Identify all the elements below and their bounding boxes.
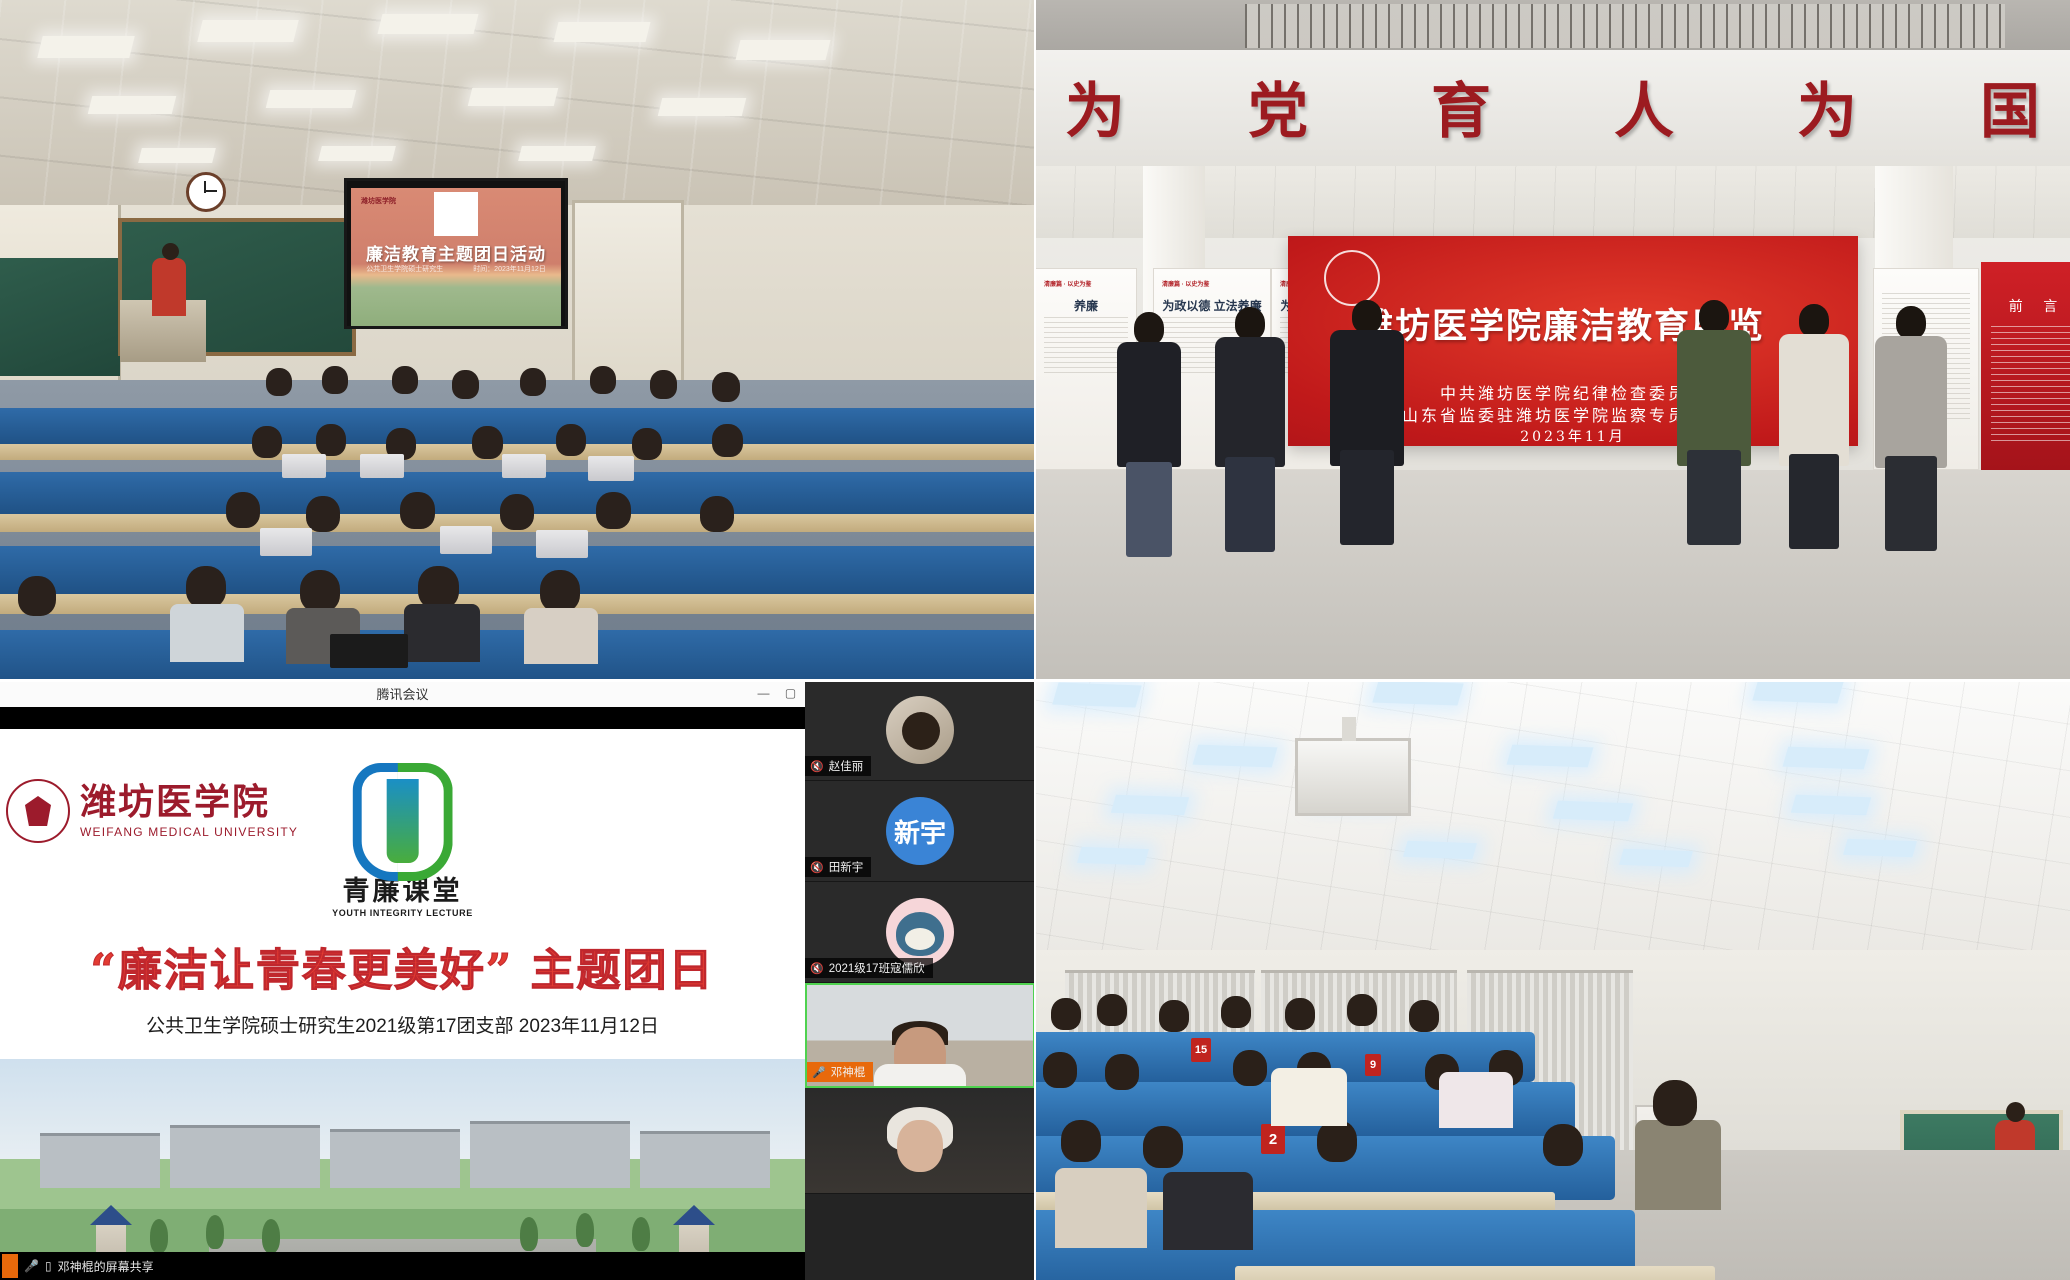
student (392, 366, 418, 394)
preface-title: 前 言 (1981, 296, 2070, 316)
slide-subtitle-left: 公共卫生学院硕士研究生 (366, 264, 443, 274)
head (1159, 1000, 1189, 1032)
student (1143, 1126, 1183, 1168)
window-title-bar: 腾讯会议 — ▢ (0, 680, 805, 707)
torso (1330, 330, 1404, 466)
ceiling (1035, 680, 2070, 980)
student (186, 566, 226, 608)
student (418, 566, 459, 609)
youth-integrity-lecture-logo: 青廉课堂 YOUTH INTEGRITY LECTURE (332, 759, 473, 918)
student (1285, 998, 1315, 1030)
student (1543, 1124, 1583, 1166)
ceiling-light (1843, 839, 1917, 857)
photo-integrity-exhibition: 为 党 育 人 为 国 清廉篇 · 以史为鉴 养廉 清廉篇 · 以史为鉴 为政以… (1035, 0, 2070, 680)
student-jacket (1635, 1120, 1721, 1210)
student (400, 492, 435, 529)
student (540, 570, 580, 612)
student-body (170, 604, 244, 662)
audience-seating (0, 380, 1035, 680)
student (226, 492, 260, 528)
ceiling-light (1052, 683, 1141, 708)
head (1653, 1080, 1697, 1126)
participant-name-badge: 🎤 邓神棍 (807, 1062, 873, 1082)
shared-screen-content: 潍坊医学院 WEIFANG MEDICAL UNIVERSITY 青廉课堂 YO… (0, 729, 805, 1280)
student (556, 424, 586, 456)
laptop (260, 528, 312, 556)
student (500, 494, 534, 530)
avatar: 新宇 (886, 797, 954, 865)
slogan-char-1: 党 (1248, 63, 1308, 150)
campus-building (640, 1131, 770, 1188)
ceiling-light (138, 148, 216, 163)
ceiling-projector (1295, 738, 1411, 816)
head (1051, 998, 1081, 1030)
photo-tencent-meeting-screen-share: 腾讯会议 — ▢ 潍坊医学院 WEIFANG MEDICAL UNIVERSIT… (0, 680, 1035, 1280)
photo-classroom-audience: 15 9 3 2 (1035, 680, 2070, 1280)
head (1799, 304, 1829, 337)
ceiling-light (1193, 745, 1278, 768)
preface-poster: 前 言 (1981, 262, 2070, 472)
ceiling-light (37, 36, 134, 58)
student (18, 576, 56, 616)
participant-name-badge: 🔇 2021级17班寇儒欣 (805, 958, 933, 978)
participant-tile[interactable] (805, 1088, 1035, 1194)
student (700, 496, 734, 532)
ceiling-light (518, 146, 596, 161)
campus-building (470, 1121, 630, 1188)
participant-name-badge: 🔇 田新宇 (805, 857, 871, 877)
laptop (282, 454, 326, 478)
ceiling-light (658, 98, 746, 116)
laptop (588, 456, 634, 481)
seat-row (0, 408, 1035, 448)
center-leaf-icon (386, 779, 418, 863)
presenter-indicator (2, 1254, 18, 1278)
head (1543, 1124, 1583, 1166)
slide-title: 廉洁教育主题团日活动 (351, 240, 561, 265)
student-jacket (1055, 1168, 1147, 1248)
tree (632, 1217, 650, 1251)
mute-icon: 🔇 (810, 962, 824, 975)
student-jacket (1439, 1072, 1513, 1128)
poster-body-text (1044, 317, 1128, 377)
student (650, 370, 677, 399)
seat-number-badge: 9 (1365, 1054, 1381, 1076)
tree (262, 1219, 280, 1253)
participant-tile-active-speaker[interactable]: 🎤 邓神棍 (805, 983, 1035, 1088)
head (1317, 1120, 1357, 1162)
student (306, 496, 340, 532)
mute-icon: 🔇 (810, 760, 824, 773)
maximize-button[interactable]: ▢ (784, 687, 797, 700)
tree (576, 1213, 594, 1247)
university-name-en: WEIFANG MEDICAL UNIVERSITY (80, 825, 298, 839)
student (266, 368, 292, 396)
campus-building (170, 1125, 320, 1188)
app-title: 腾讯会议 (376, 684, 428, 703)
participant-name-badge: 🔇 赵佳丽 (805, 756, 871, 776)
projection-screen: 潍坊医学院 廉洁教育主题团日活动 公共卫生学院硕士研究生 时间：2023年11月… (344, 178, 568, 329)
participant-name: 赵佳丽 (829, 758, 864, 774)
avatar-initials: 新宇 (894, 813, 946, 850)
tree (150, 1219, 168, 1253)
student (322, 366, 348, 394)
ceiling-light (736, 40, 831, 60)
participant-tile[interactable]: 新宇 🔇 田新宇 (805, 781, 1035, 882)
head (1105, 1054, 1139, 1090)
legs (1340, 450, 1393, 545)
head (1233, 1050, 1267, 1086)
head (1134, 312, 1164, 345)
slogan-char-0: 为 (1065, 63, 1125, 150)
student (1317, 1120, 1357, 1162)
exhibition-attendee (1215, 307, 1285, 562)
participant-sidebar: 🔇 正在讲话：邓神棍 ▸▸ 🔇 赵佳丽 新宇 🔇 田新宇 (805, 680, 1035, 1280)
window-controls: — ▢ (757, 680, 797, 707)
avatar (886, 898, 954, 966)
student (1221, 996, 1251, 1028)
slogan-char-3: 人 (1614, 63, 1674, 150)
seat-row (0, 630, 1035, 680)
student (590, 366, 616, 394)
tree (520, 1217, 538, 1251)
exhibition-attendee (1330, 300, 1404, 562)
student (1061, 1120, 1101, 1162)
legs (1885, 456, 1937, 551)
laptop (536, 530, 588, 558)
student (1653, 1080, 1697, 1126)
ceiling-light (1791, 795, 1871, 816)
exhibition-attendee (1875, 306, 1947, 562)
ceiling-light (88, 96, 176, 114)
ceiling-light (1372, 680, 1463, 705)
student (452, 370, 479, 399)
legs (1225, 457, 1275, 552)
head (1352, 300, 1382, 333)
student (1347, 994, 1377, 1026)
student (712, 372, 740, 402)
head (1409, 1000, 1439, 1032)
screen-share-icon[interactable]: ▯ (45, 1259, 52, 1273)
ceiling-light (1111, 795, 1189, 816)
microphone-icon: 🎤 (812, 1066, 826, 1079)
ceiling-light (378, 14, 479, 34)
campus-building (40, 1133, 160, 1188)
ceiling-light (1619, 849, 1693, 867)
seat-number-badge: 15 (1191, 1038, 1211, 1062)
head (1699, 300, 1729, 333)
head (1061, 1120, 1101, 1162)
student (1051, 998, 1081, 1030)
student (316, 424, 346, 456)
desk-row (1235, 1266, 1715, 1280)
legs (1789, 454, 1839, 549)
head (1097, 994, 1127, 1026)
exhibition-attendee (1117, 312, 1181, 562)
photo-collage: 潍坊医学院 廉洁教育主题团日活动 公共卫生学院硕士研究生 时间：2023年11月… (0, 0, 2070, 1280)
ceiling-light (1077, 847, 1149, 865)
seat-row (0, 546, 1035, 598)
student (1105, 1054, 1139, 1090)
exhibition-attendee (1677, 300, 1751, 562)
ceiling-light (1783, 747, 1870, 770)
wall-slogan: 为 党 育 人 为 国 (1035, 48, 2070, 164)
preface-body-text (1991, 326, 2070, 446)
window-letterbox (0, 707, 805, 729)
slogan-char-5: 国 (1980, 63, 2040, 150)
tree (206, 1215, 224, 1249)
torso (1875, 336, 1947, 468)
slogan-char-4: 为 (1797, 63, 1857, 150)
student-body (524, 608, 598, 664)
ceiling-light (318, 146, 396, 161)
head (1896, 306, 1926, 339)
student (632, 428, 662, 460)
university-seal-icon (6, 779, 70, 843)
photo-lecture-hall-activity: 潍坊医学院 廉洁教育主题团日活动 公共卫生学院硕士研究生 时间：2023年11月… (0, 0, 1035, 680)
student (1409, 1000, 1439, 1032)
ceiling-light (1403, 841, 1477, 859)
ceiling-light (197, 20, 298, 42)
program-name-en: YOUTH INTEGRITY LECTURE (332, 908, 473, 918)
campus-building (330, 1129, 460, 1188)
slogan-char-2: 育 (1431, 63, 1491, 150)
minimize-button[interactable]: — (757, 687, 770, 700)
wall-clock-icon (186, 172, 226, 212)
mute-icon: 🔇 (810, 861, 824, 874)
student (520, 368, 546, 396)
university-logo: 潍坊医学院 WEIFANG MEDICAL UNIVERSITY (6, 779, 298, 843)
student (712, 424, 743, 457)
participant-name: 邓神棍 (831, 1064, 866, 1080)
ceiling-light (1752, 680, 1843, 704)
student (596, 492, 631, 529)
ceiling-light (1507, 745, 1594, 768)
student (472, 426, 503, 459)
screen-share-status-bar: 🎤 ▯ 邓神棍的屏幕共享 (0, 1252, 807, 1280)
campus-photo (0, 1059, 805, 1280)
poster-header: 清廉篇 · 以史为鉴 (1044, 279, 1091, 288)
backpack (330, 634, 408, 668)
legs (1126, 462, 1172, 557)
student (300, 570, 340, 612)
laptop (502, 454, 546, 478)
head (1235, 307, 1265, 340)
student-body (404, 604, 480, 662)
leaf-book-icon (348, 759, 456, 867)
head (1043, 1052, 1077, 1088)
student (252, 426, 282, 458)
exhibition-attendee (1779, 304, 1849, 562)
face (897, 1120, 943, 1172)
poster-header: 清廉篇 · 以史为鉴 (1162, 279, 1209, 288)
university-logo-text: 潍坊医学院 (361, 196, 396, 206)
student (1097, 994, 1127, 1026)
laptop (360, 454, 404, 478)
torso (1215, 337, 1285, 467)
participant-name: 2021级17班寇儒欣 (829, 960, 925, 976)
student-jacket (1271, 1068, 1347, 1126)
ceiling-light (468, 88, 558, 106)
projected-slide: 潍坊医学院 廉洁教育主题团日活动 公共卫生学院硕士研究生 时间：2023年11月… (351, 188, 561, 326)
student-jacket (1163, 1172, 1253, 1250)
participant-name: 田新宇 (829, 859, 864, 875)
camera-feed (805, 1088, 1035, 1193)
participant-tile[interactable]: 🔇 2021级17班寇儒欣 (805, 882, 1035, 983)
slide-subtitle: 公共卫生学院硕士研究生2021级第17团支部 2023年11月12日 (0, 1011, 805, 1038)
seat-number-badge: 2 (1261, 1124, 1285, 1154)
participant-tile[interactable]: 🔇 赵佳丽 (805, 680, 1035, 781)
slide-main-title: “廉洁让青春更美好” 主题团日 (0, 934, 805, 998)
chalkboard-left (0, 258, 120, 376)
torso (1117, 342, 1181, 467)
screen-share-label: 邓神棍的屏幕共享 (58, 1258, 154, 1275)
head (1221, 996, 1251, 1028)
ceiling-light (1553, 801, 1633, 822)
ceiling-light (554, 22, 651, 42)
torso (1779, 334, 1849, 466)
student (1159, 1000, 1189, 1032)
avatar (886, 696, 954, 764)
head (1285, 998, 1315, 1030)
student (1043, 1052, 1077, 1088)
university-name-cn: 潍坊医学院 (80, 784, 298, 820)
desk-row (0, 594, 1035, 614)
head (1347, 994, 1377, 1026)
head (1143, 1126, 1183, 1168)
youth-integrity-logo-icon (434, 192, 478, 236)
laptop (440, 526, 492, 554)
torso (1677, 330, 1751, 466)
shirt (874, 1064, 966, 1086)
slide-logo-row: 潍坊医学院 WEIFANG MEDICAL UNIVERSITY 青廉课堂 YO… (0, 749, 805, 924)
balcony-railing (1245, 4, 2005, 48)
presenter (152, 258, 186, 316)
legs (1687, 450, 1740, 545)
collage-divider-horizontal (0, 679, 2070, 682)
student (1233, 1050, 1267, 1086)
collage-divider-vertical (1034, 0, 1036, 1280)
slide-subtitle: 公共卫生学院硕士研究生 时间：2023年11月12日 (351, 264, 561, 274)
ceiling-light (266, 90, 356, 108)
microphone-icon[interactable]: 🎤 (24, 1259, 39, 1273)
slide-subtitle-right: 时间：2023年11月12日 (473, 264, 546, 274)
